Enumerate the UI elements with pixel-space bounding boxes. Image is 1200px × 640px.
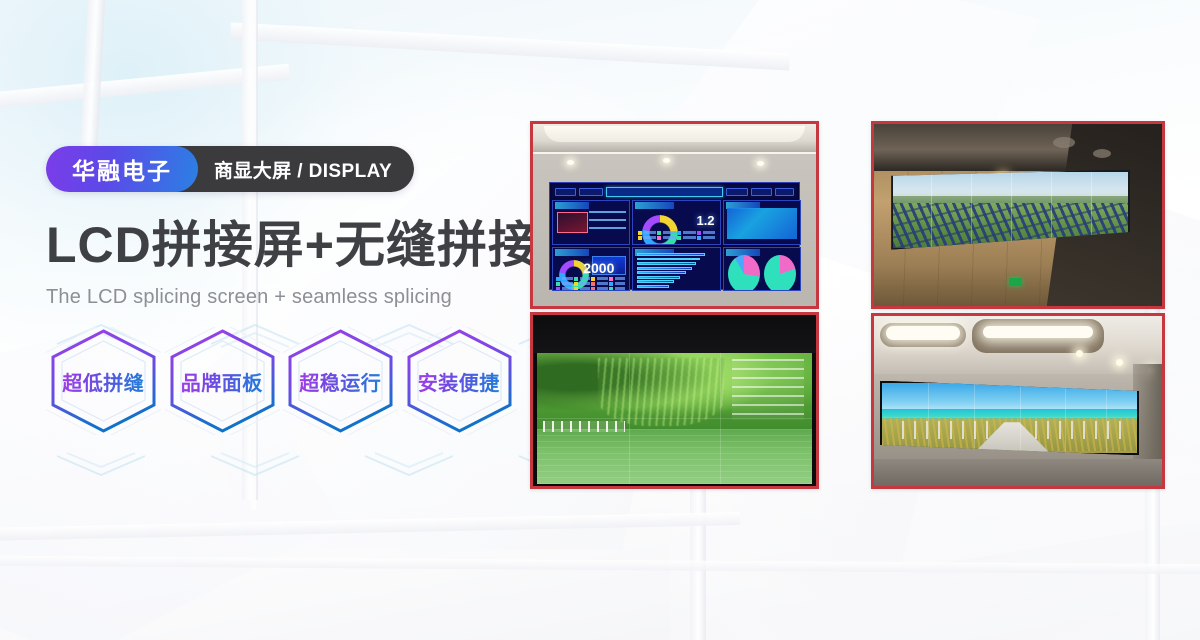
- feature-badge-label: 安装便捷: [418, 367, 500, 396]
- feature-badge-label: 超低拼缝: [62, 367, 144, 396]
- banner-text-column: 华融电子 商显大屏 / DISPLAY LCD拼接屏+无缝拼接 The LCD …: [46, 146, 516, 435]
- photo-content: 1.2: [533, 124, 816, 306]
- feature-badge-list: 超低拼缝 品牌面板: [46, 327, 516, 435]
- product-banner: 华融电子 商显大屏 / DISPLAY LCD拼接屏+无缝拼接 The LCD …: [0, 0, 1200, 640]
- exit-sign-icon: [1009, 278, 1022, 286]
- brand-badge: 华融电子: [46, 146, 198, 192]
- photo-content: [533, 315, 816, 486]
- feature-badge-0: 超低拼缝: [46, 327, 161, 435]
- page-title: LCD拼接屏+无缝拼接: [46, 218, 516, 272]
- photo-solar-farm-video-wall: [871, 121, 1165, 309]
- dashboard-video-wall: 1.2: [549, 182, 801, 289]
- photo-content: [874, 316, 1162, 486]
- brand-category-pill: 华融电子 商显大屏 / DISPLAY: [46, 146, 414, 192]
- feature-badge-3: 安装便捷: [402, 327, 517, 435]
- page-subtitle: The LCD splicing screen + seamless splic…: [46, 286, 516, 309]
- photo-content: [874, 124, 1162, 306]
- calendar-overlay: [732, 359, 803, 420]
- feature-badge-label: 品牌面板: [181, 367, 263, 396]
- feature-badge-label: 超稳运行: [299, 367, 381, 396]
- feature-badge-1: 品牌面板: [165, 327, 280, 435]
- watermark-chevron-row-bottom: [55, 452, 609, 478]
- chevron-down-icon: [209, 452, 301, 478]
- photo-beach-boardwalk-video-wall: [871, 313, 1165, 489]
- chevron-down-icon: [363, 452, 455, 478]
- beach-boardwalk-screen: [880, 381, 1139, 456]
- feature-badge-2: 超稳运行: [283, 327, 398, 435]
- chevron-down-icon: [55, 452, 147, 478]
- photo-willow-pond-video-wall: [530, 312, 819, 489]
- photo-control-room-dashboard: 1.2: [530, 121, 819, 309]
